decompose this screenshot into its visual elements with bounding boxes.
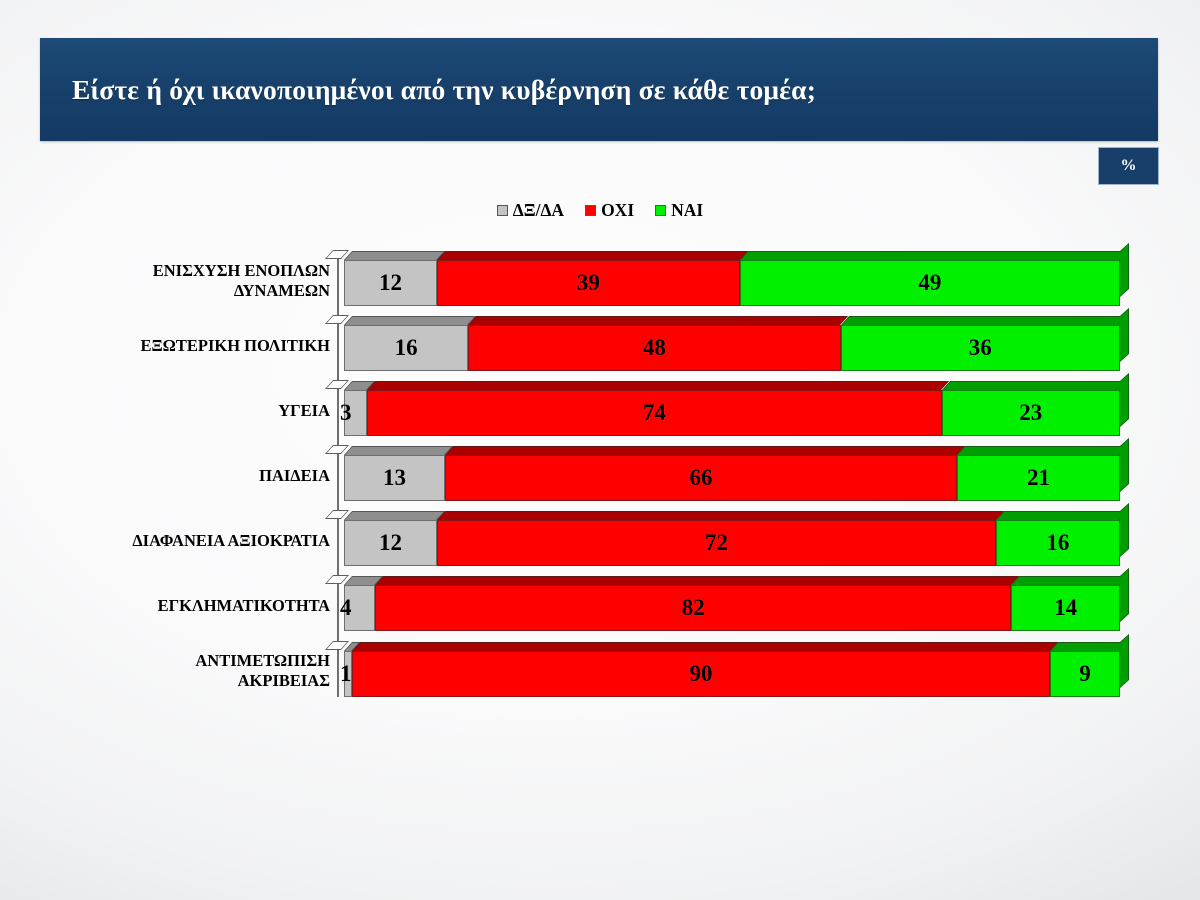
chart-row: ΑΝΤΙΜΕΤΩΠΙΣΗ ΑΚΡΙΒΕΙΑΣ1909 [0, 639, 1200, 704]
bar-side-face [1120, 438, 1129, 492]
bar-top-face [437, 251, 748, 260]
stacked-bar: 123949 [344, 260, 1120, 306]
chart-row: ΠΑΙΔΕΙΑ136621 [0, 443, 1200, 508]
bar-segment-ΝΑΙ[interactable]: 23 [942, 390, 1120, 436]
bar-top-face [437, 511, 1004, 520]
bar-segment-ΟΧΙ[interactable]: 66 [445, 455, 957, 501]
bar-value-label: 14 [1054, 595, 1077, 621]
bar-segment-ΟΧΙ[interactable]: 74 [367, 390, 941, 436]
title-bar: Είστε ή όχι ικανοποιημένοι από την κυβέρ… [40, 38, 1158, 141]
bar-top-face [352, 642, 1058, 651]
stacked-bar: 48214 [344, 585, 1120, 631]
chart-row: ΕΞΩΤΕΡΙΚΗ ΠΟΛΙΤΙΚΗ164836 [0, 313, 1200, 378]
bar-value-label: 21 [1027, 465, 1050, 491]
bar-segment-ΔΞ/ΔΑ[interactable]: 1 [344, 651, 352, 697]
bar-segment-ΝΑΙ[interactable]: 21 [957, 455, 1120, 501]
stacked-bar: 37423 [344, 390, 1120, 436]
category-label: ΕΞΩΤΕΡΙΚΗ ΠΟΛΙΤΙΚΗ [70, 336, 330, 356]
bar-top-face [344, 511, 445, 520]
bar-top-face [468, 316, 849, 325]
bar-top-face [942, 381, 1129, 390]
bar-top-face [344, 251, 445, 260]
legend-swatch-icon [497, 205, 508, 216]
chart-row: ΕΓΚΛΗΜΑΤΙΚΟΤΗΤΑ48214 [0, 573, 1200, 638]
bar-value-label: 12 [379, 530, 402, 556]
bar-value-label: 82 [682, 595, 705, 621]
slide-canvas: Είστε ή όχι ικανοποιημένοι από την κυβέρ… [0, 0, 1200, 900]
bar-top-face [367, 381, 949, 390]
legend-item-2[interactable]: ΝΑΙ [655, 200, 703, 221]
bar-side-face [1120, 503, 1129, 557]
bar-top-face [445, 446, 965, 455]
bar-segment-ΔΞ/ΔΑ[interactable]: 13 [344, 455, 445, 501]
legend-label: ΔΞ/ΔΑ [513, 200, 564, 221]
bar-value-label: 13 [383, 465, 406, 491]
chart-plot-area: ΕΝΙΣΧΥΣΗ ΕΝΟΠΛΩΝ ΔΥΝΑΜΕΩΝ123949ΕΞΩΤΕΡΙΚΗ… [0, 248, 1200, 704]
bar-value-label: 48 [643, 335, 666, 361]
bar-value-label: 16 [1046, 530, 1069, 556]
bar-value-label: 90 [689, 661, 712, 687]
bar-value-label: 12 [379, 270, 402, 296]
stacked-bar: 1909 [344, 651, 1120, 697]
footer: A NEWS alco The pulse of society [0, 800, 1200, 900]
bar-value-label: 39 [577, 270, 600, 296]
legend-label: ΝΑΙ [671, 200, 703, 221]
chart-row: ΥΓΕΙΑ37423 [0, 378, 1200, 443]
bar-top-face [1050, 642, 1128, 651]
category-label: ΠΑΙΔΕΙΑ [70, 466, 330, 486]
bar-value-label: 4 [340, 595, 352, 621]
bar-top-face [344, 446, 453, 455]
stacked-bar: 164836 [344, 325, 1120, 371]
chart-row: ΕΝΙΣΧΥΣΗ ΕΝΟΠΛΩΝ ΔΥΝΑΜΕΩΝ123949 [0, 248, 1200, 313]
bar-segment-ΔΞ/ΔΑ[interactable]: 3 [344, 390, 367, 436]
bar-side-face [1120, 373, 1129, 427]
stacked-bar: 127216 [344, 520, 1120, 566]
category-label: ΥΓΕΙΑ [70, 401, 330, 421]
legend-swatch-icon [585, 205, 596, 216]
bar-top-face [740, 251, 1128, 260]
legend-swatch-icon [655, 205, 666, 216]
bar-top-face [841, 316, 1128, 325]
bar-top-face [344, 316, 476, 325]
bar-top-face [957, 446, 1128, 455]
bar-segment-ΟΧΙ[interactable]: 48 [468, 325, 840, 371]
bar-segment-ΝΑΙ[interactable]: 16 [996, 520, 1120, 566]
category-label: ΕΓΚΛΗΜΑΤΙΚΟΤΗΤΑ [70, 596, 330, 616]
bar-segment-ΝΑΙ[interactable]: 36 [841, 325, 1120, 371]
page-title: Είστε ή όχι ικανοποιημένοι από την κυβέρ… [72, 74, 816, 106]
legend-item-1[interactable]: ΟΧΙ [585, 200, 634, 221]
bar-value-label: 49 [918, 270, 941, 296]
bar-segment-ΔΞ/ΔΑ[interactable]: 12 [344, 260, 437, 306]
bar-value-label: 23 [1019, 400, 1042, 426]
bar-value-label: 72 [705, 530, 728, 556]
legend-item-0[interactable]: ΔΞ/ΔΑ [497, 200, 564, 221]
chart-legend: ΔΞ/ΔΑΟΧΙΝΑΙ [0, 200, 1200, 221]
bar-segment-ΝΑΙ[interactable]: 49 [740, 260, 1120, 306]
bar-top-face [1011, 576, 1128, 585]
category-label: ΔΙΑΦΑΝΕΙΑ ΑΞΙΟΚΡΑΤΙΑ [70, 531, 330, 551]
bar-side-face [1120, 243, 1129, 297]
chart-row: ΔΙΑΦΑΝΕΙΑ ΑΞΙΟΚΡΑΤΙΑ127216 [0, 508, 1200, 573]
bar-value-label: 16 [395, 335, 418, 361]
bar-value-label: 9 [1079, 661, 1091, 687]
bar-top-face [375, 576, 1019, 585]
bar-segment-ΔΞ/ΔΑ[interactable]: 12 [344, 520, 437, 566]
stacked-bar: 136621 [344, 455, 1120, 501]
percent-unit-badge: % [1098, 147, 1159, 185]
bar-top-face [996, 511, 1128, 520]
bar-segment-ΟΧΙ[interactable]: 90 [352, 651, 1050, 697]
bar-side-face [1120, 633, 1129, 687]
bar-value-label: 36 [969, 335, 992, 361]
bar-value-label: 74 [643, 400, 666, 426]
bar-value-label: 66 [689, 465, 712, 491]
bar-segment-ΟΧΙ[interactable]: 72 [437, 520, 996, 566]
bar-segment-ΔΞ/ΔΑ[interactable]: 4 [344, 585, 375, 631]
bar-segment-ΝΑΙ[interactable]: 14 [1011, 585, 1120, 631]
bar-side-face [1120, 308, 1129, 362]
bar-segment-ΟΧΙ[interactable]: 82 [375, 585, 1011, 631]
bar-segment-ΔΞ/ΔΑ[interactable]: 16 [344, 325, 468, 371]
bar-value-label: 1 [340, 661, 352, 687]
bar-segment-ΝΑΙ[interactable]: 9 [1050, 651, 1120, 697]
legend-label: ΟΧΙ [601, 200, 634, 221]
bar-side-face [1120, 568, 1129, 622]
category-label: ΕΝΙΣΧΥΣΗ ΕΝΟΠΛΩΝ ΔΥΝΑΜΕΩΝ [70, 260, 330, 300]
category-label: ΑΝΤΙΜΕΤΩΠΙΣΗ ΑΚΡΙΒΕΙΑΣ [70, 651, 330, 691]
bar-segment-ΟΧΙ[interactable]: 39 [437, 260, 740, 306]
bar-value-label: 3 [340, 400, 352, 426]
bar-rows: ΕΝΙΣΧΥΣΗ ΕΝΟΠΛΩΝ ΔΥΝΑΜΕΩΝ123949ΕΞΩΤΕΡΙΚΗ… [0, 248, 1200, 704]
